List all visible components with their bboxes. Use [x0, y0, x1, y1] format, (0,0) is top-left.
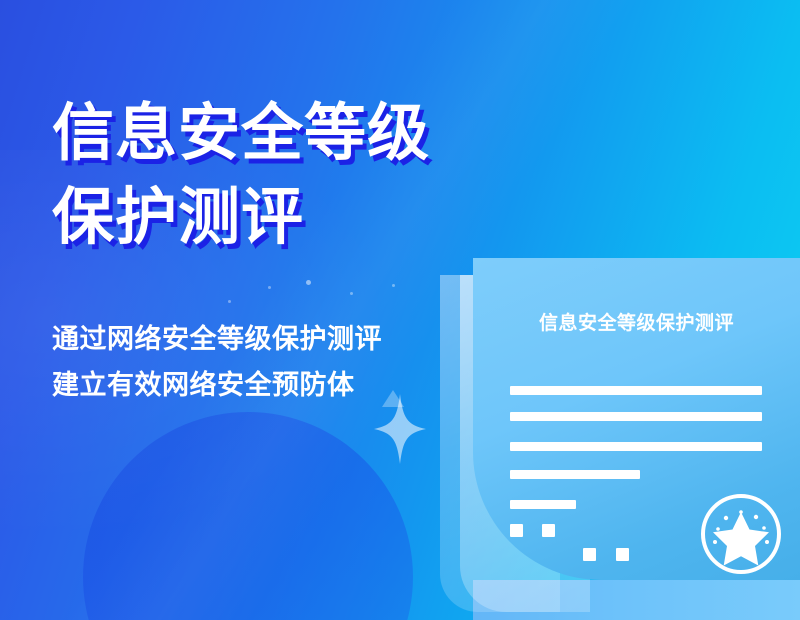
decoration-dot: [392, 284, 395, 287]
certificate-text-line: [510, 386, 762, 395]
certificate-title: 信息安全等级保护测评: [473, 308, 800, 335]
decoration-dot: [228, 300, 231, 303]
headline-block: 信息安全等级 保护测评: [52, 92, 572, 260]
certificate-text-square: [510, 524, 523, 537]
promo-banner: 信息安全等级 保护测评 通过网络安全等级保护测评 建立有效网络安全预防体 信息安…: [0, 0, 800, 620]
decoration-dot: [306, 280, 311, 285]
background-circle-shape: [83, 412, 413, 620]
decoration-dot: [350, 292, 353, 295]
headline-line-2: 保护测评: [52, 176, 572, 260]
certificate-text-line: [510, 412, 762, 421]
certificate-illustration: 信息安全等级保护测评: [415, 250, 800, 620]
certificate-front-card: 信息安全等级保护测评: [473, 258, 800, 580]
certificate-text-square: [616, 548, 629, 561]
certificate-text-line: [510, 500, 576, 509]
star-seal-icon: [699, 492, 783, 576]
certificate-text-square: [542, 524, 555, 537]
headline-line-1: 信息安全等级: [52, 92, 572, 176]
certificate-text-line: [510, 470, 640, 479]
certificate-text-square: [583, 548, 596, 561]
certificate-text-line: [510, 442, 762, 451]
decoration-dot: [268, 286, 271, 289]
